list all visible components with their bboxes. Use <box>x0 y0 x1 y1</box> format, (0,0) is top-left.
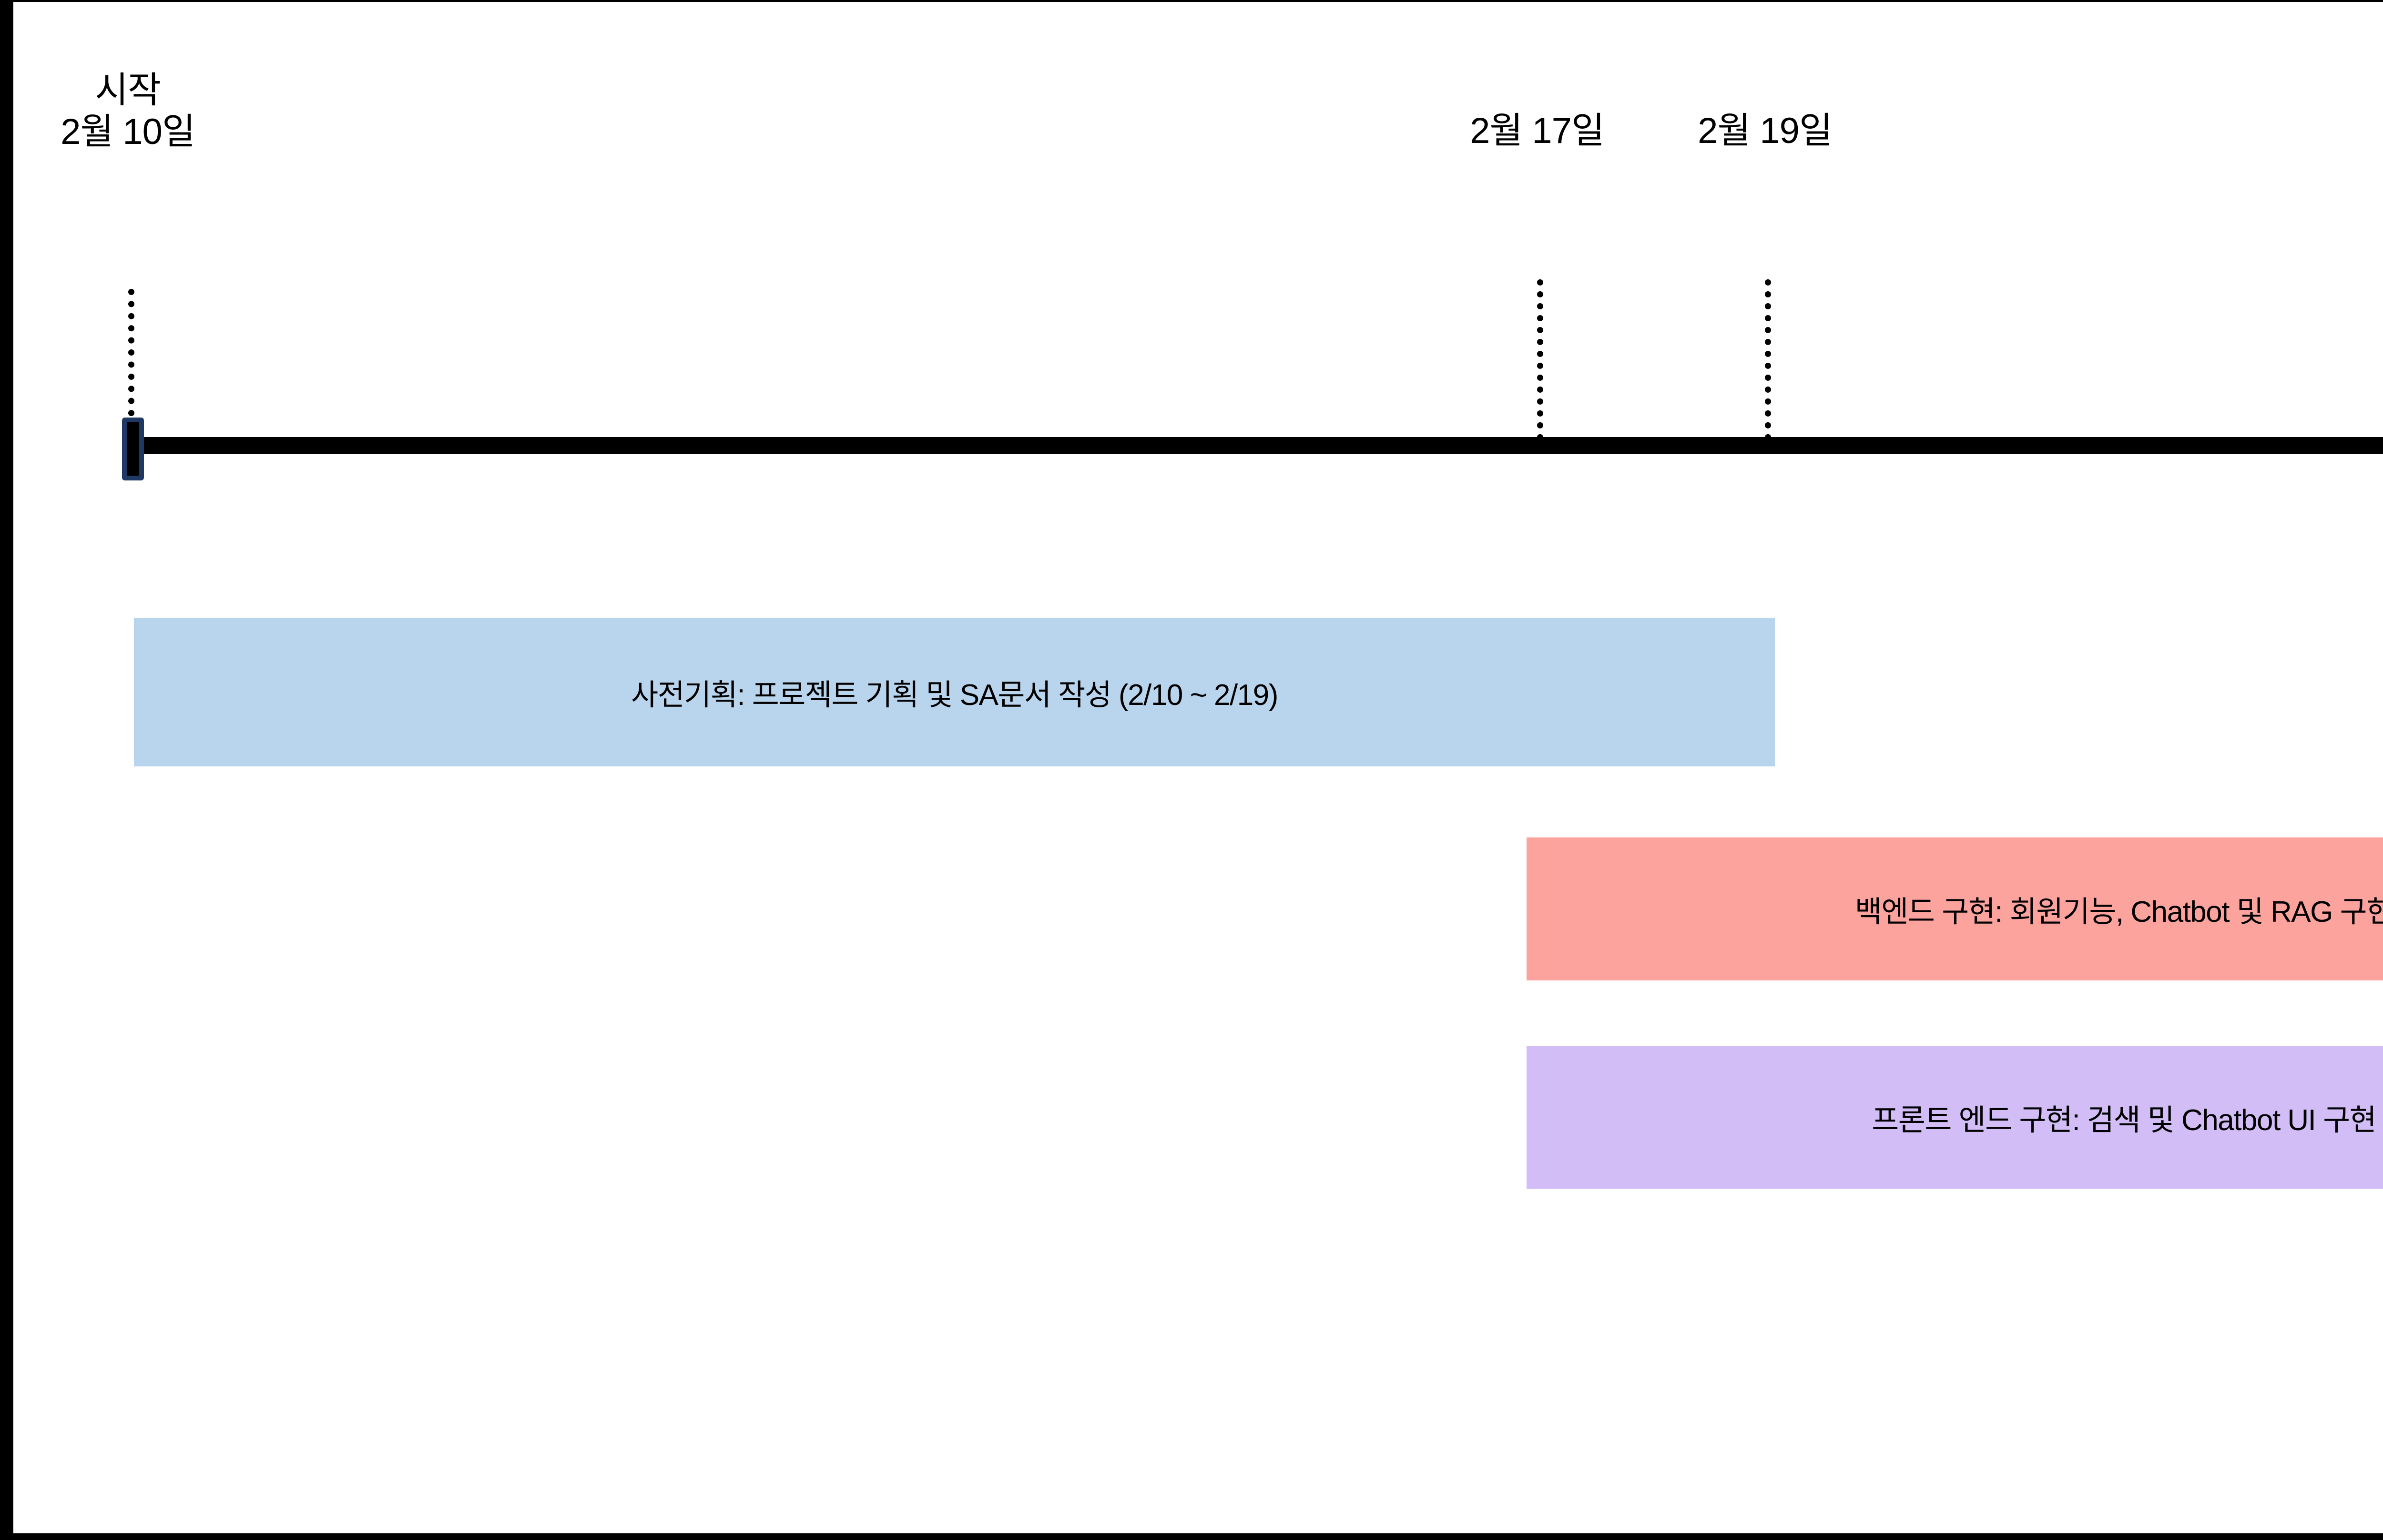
task-bar-planning-label: 사전기획: 프로젝트 기획 및 SA문서 작성 (2/10 ~ 2/19) <box>631 671 1278 714</box>
task-bar-frontend-label: 프론트 엔드 구현: 검색 및 Chatbot UI 구현 (2/17 ~ 2/… <box>1872 1096 2383 1139</box>
tick-label-feb19-date: 2월 19일 <box>1641 111 1889 152</box>
timeline-axis-line <box>130 437 2383 454</box>
tick-label-feb17: 2월 17일 <box>1413 111 1661 152</box>
tick-leader-feb19 <box>1765 279 1771 440</box>
tick-label-start-date: 2월 10일 <box>13 112 252 153</box>
task-bar-backend-label: 백엔드 구현: 회원기능, Chatbot 및 RAG 구현 (2/17 ~ 2… <box>1855 887 2383 930</box>
optimization-footnote: 응답 정확도 개선 및 할루시네이션 완화 <box>2363 1429 2383 1465</box>
tick-label-start: 시작 2월 10일 <box>13 70 252 153</box>
tick-label-feb17-date: 2월 17일 <box>1413 111 1661 152</box>
task-bar-planning[interactable]: 사전기획: 프로젝트 기획 및 SA문서 작성 (2/10 ~ 2/19) <box>134 618 1775 766</box>
task-bar-frontend[interactable]: 프론트 엔드 구현: 검색 및 Chatbot UI 구현 (2/17 ~ 2/… <box>1527 1046 2383 1189</box>
task-bar-backend[interactable]: 백엔드 구현: 회원기능, Chatbot 및 RAG 구현 (2/17 ~ 2… <box>1527 837 2383 980</box>
tick-label-start-caption: 시작 <box>13 70 252 112</box>
timeline-canvas: 시작 2월 10일 2월 17일 2월 19일 2월 25일 종료 2월 26일… <box>13 2 2383 1533</box>
tick-label-feb19: 2월 19일 <box>1641 111 1889 152</box>
tick-leader-feb17 <box>1537 279 1543 440</box>
tick-leader-start <box>128 289 134 440</box>
